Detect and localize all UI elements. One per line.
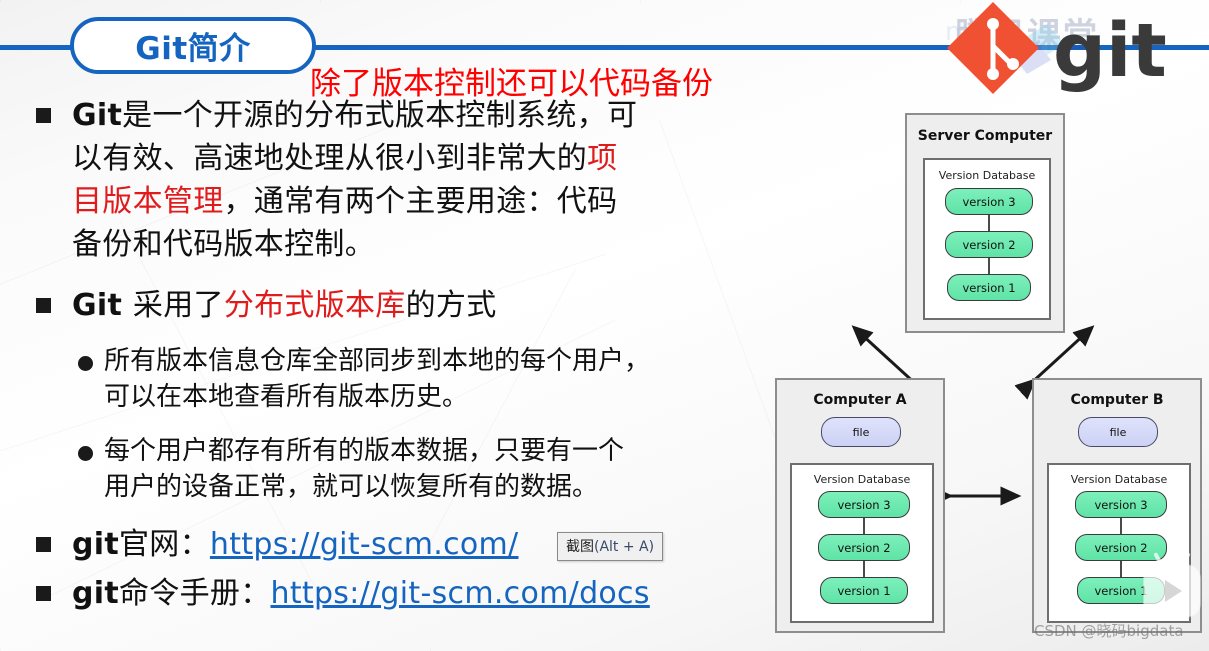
server-computer-title: Server Computer (907, 128, 1063, 144)
bullet-text-highlight: 目版本管理 (72, 184, 224, 219)
computer-a-db-label: Version Database (792, 473, 932, 486)
computer-a-version-database: Version Database version 3 version 2 ver… (790, 463, 934, 623)
git-docs-link[interactable]: https://git-scm.com/docs (271, 576, 650, 611)
slide-canvas: Git简介 腾讯课堂 mmy gi (0, 0, 1209, 651)
sub-bullet-line: 所有版本信息仓库全部同步到本地的每个用户， (104, 346, 650, 376)
computer-a-version-1: version 1 (820, 577, 908, 604)
bullet-text-part: Git (72, 288, 133, 323)
server-version-database: Version Database version 3 version 2 ver… (923, 158, 1051, 320)
server-computer-box: Server Computer Version Database version… (905, 113, 1065, 333)
tooltip-label: 截图 (566, 539, 594, 555)
computer-b-version-3: version 3 (1075, 491, 1167, 518)
page-title-text: Git简介 (135, 23, 250, 68)
csdn-watermark: CSDN @晓码bigdata (1034, 620, 1184, 641)
server-version-2: version 2 (945, 231, 1033, 258)
server-version-3: version 3 (945, 188, 1033, 215)
bullet-text: Git 采用了分布式版本库的方式 (72, 284, 812, 327)
computer-b-file: file (1078, 417, 1158, 447)
tooltip-shortcut: (Alt + A) (594, 539, 654, 555)
git-logo: mmy git (935, 0, 1209, 94)
dot-bullet-icon (78, 356, 93, 371)
bullet-text-part: 官网： (119, 527, 210, 562)
computer-a-version-2: version 2 (818, 534, 910, 561)
sub-bullet-line: 用户的设备正常，就可以恢复所有的数据。 (104, 472, 598, 502)
bullet-text-part: 采用了 (133, 288, 224, 323)
slide-body: Git是一个开源的分布式版本控制系统，可 以有效、高速地处理从很小到非常大的项 … (22, 94, 812, 621)
sub-bullet-item: 所有版本信息仓库全部同步到本地的每个用户， 可以在本地查看所有版本历史。 (22, 343, 812, 415)
sub-bullet-line: 每个用户都存有所有的版本数据，只要有一个 (104, 436, 624, 466)
bullet-item: Git 采用了分布式版本库的方式 (22, 284, 812, 327)
computer-a-box: Computer A file Version Database version… (775, 378, 945, 633)
play-button-icon (1144, 565, 1200, 617)
square-bullet-icon (36, 298, 51, 313)
computer-b-title: Computer B (1034, 392, 1200, 408)
bullet-text-part: git (72, 576, 119, 611)
computer-b-version-2: version 2 (1075, 534, 1167, 561)
bullet-text-highlight: 分布式版本库 (224, 288, 406, 323)
bullet-item-git-docs: git命令手册：https://git-scm.com/docs (22, 572, 812, 615)
bullet-text-part: Git (72, 98, 122, 133)
bullet-text-highlight: 项 (587, 141, 617, 176)
bullet-text-part: 命令手册： (119, 576, 271, 611)
computer-a-file: file (821, 417, 901, 447)
server-version-1: version 1 (947, 274, 1031, 301)
bullet-text-part: 是一个开源的分布式版本控制系统，可 (122, 98, 637, 133)
bullet-item-git-website: git官网：https://git-scm.com/ (22, 523, 812, 566)
page-title: Git简介 (70, 17, 316, 74)
bullet-text-part: ，通常有两个主要用途：代码 (224, 184, 618, 219)
bullet-item: Git是一个开源的分布式版本控制系统，可 以有效、高速地处理从很小到非常大的项 … (22, 94, 812, 266)
square-bullet-icon (36, 586, 51, 601)
dot-bullet-icon (78, 446, 93, 461)
git-website-link[interactable]: https://git-scm.com/ (210, 527, 519, 562)
bullet-text: Git是一个开源的分布式版本控制系统，可 以有效、高速地处理从很小到非常大的项 … (72, 94, 812, 266)
play-triangle-icon (1165, 580, 1182, 602)
bullet-text: git官网：https://git-scm.com/ (72, 523, 812, 566)
bullet-text-part: 以有效、高速地处理从很小到非常大的 (72, 141, 587, 176)
computer-a-title: Computer A (777, 392, 943, 408)
sub-bullet-item: 每个用户都存有所有的版本数据，只要有一个 用户的设备正常，就可以恢复所有的数据。 (22, 433, 812, 505)
sub-bullet-text: 每个用户都存有所有的版本数据，只要有一个 用户的设备正常，就可以恢复所有的数据。 (104, 433, 812, 505)
sub-bullet-line: 可以在本地查看所有版本历史。 (104, 382, 468, 412)
svg-text:git: git (1053, 8, 1167, 94)
bullet-text-part: 备份和代码版本控制。 (72, 227, 375, 262)
bullet-text-part: git (72, 527, 119, 562)
git-architecture-diagram: Server Computer Version Database version… (760, 100, 1209, 651)
bullet-text-part: 的方式 (406, 288, 497, 323)
computer-a-version-3: version 3 (818, 491, 910, 518)
sub-bullet-text: 所有版本信息仓库全部同步到本地的每个用户， 可以在本地查看所有版本历史。 (104, 343, 812, 415)
computer-b-db-label: Version Database (1049, 473, 1189, 486)
bullet-text: git命令手册：https://git-scm.com/docs (72, 572, 812, 615)
screenshot-tooltip: 截图(Alt + A) (557, 532, 663, 561)
square-bullet-icon (36, 108, 51, 123)
server-db-label: Version Database (925, 169, 1049, 182)
square-bullet-icon (36, 537, 51, 552)
